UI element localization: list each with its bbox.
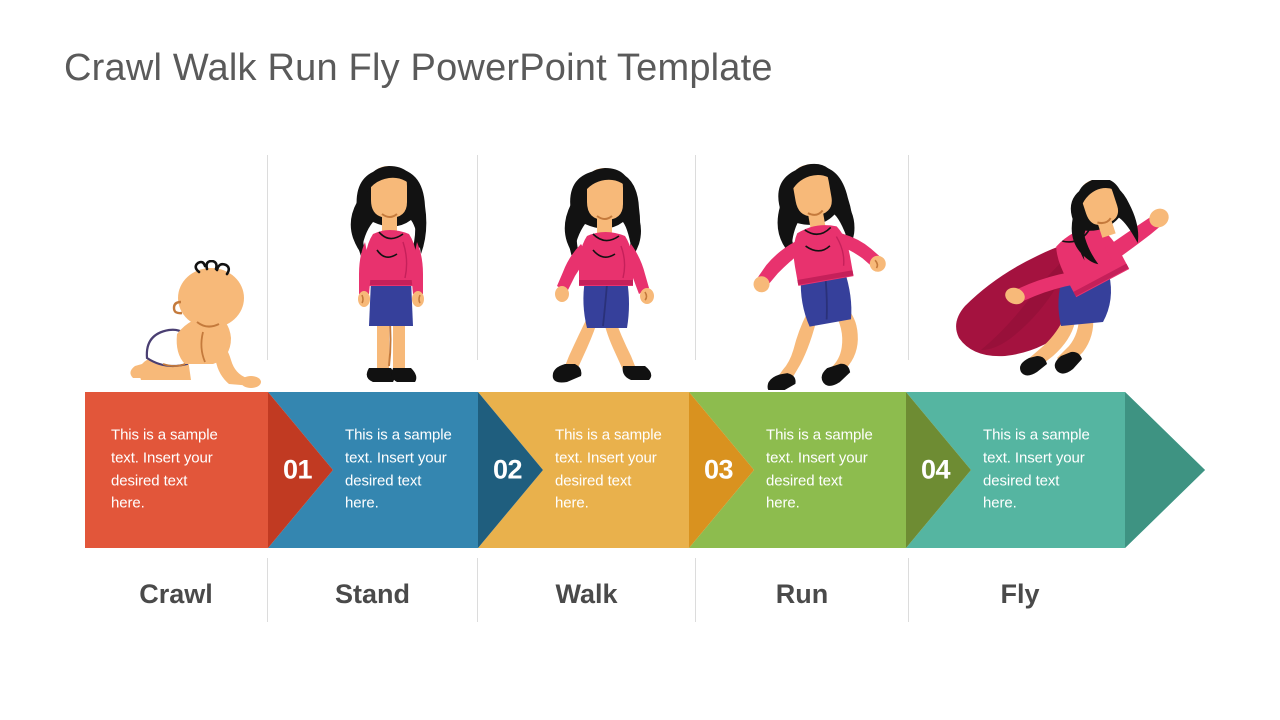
stage-label-crawl: Crawl (85, 576, 267, 612)
chevron-text-crawl: This is a sample text. Insert your desir… (111, 424, 223, 515)
page-title: Crawl Walk Run Fly PowerPoint Template (64, 44, 773, 92)
figure-flying-superhero (945, 152, 1175, 390)
flying-superhero-icon (945, 180, 1175, 390)
divider-top-1 (267, 155, 268, 360)
chevron-arrow-fly (1125, 392, 1205, 548)
divider-top-4 (908, 155, 909, 360)
figure-running-woman (745, 152, 895, 390)
walking-woman-icon (535, 164, 675, 390)
chevron-number-04: 04 (921, 455, 950, 486)
stage-label-run: Run (696, 576, 908, 612)
divider-top-2 (477, 155, 478, 360)
divider-top-3 (695, 155, 696, 360)
stage-label-walk: Walk (478, 576, 695, 612)
chevron-number-03: 03 (704, 455, 733, 486)
chevron-text-fly: This is a sample text. Insert your desir… (983, 424, 1095, 515)
running-woman-icon (745, 162, 895, 390)
figure-walking-woman (535, 152, 675, 390)
stage-label-stand: Stand (268, 576, 477, 612)
chevron-text-walk: This is a sample text. Insert your desir… (555, 424, 667, 515)
figure-crawling-baby (125, 152, 265, 390)
chevron-text-run: This is a sample text. Insert your desir… (766, 424, 878, 515)
crawling-baby-icon (125, 260, 265, 390)
chevron-number-01: 01 (283, 455, 312, 486)
chevron-number-02: 02 (493, 455, 522, 486)
stage-label-fly: Fly (909, 576, 1131, 612)
standing-woman-icon (325, 162, 455, 390)
illustration-row (85, 152, 1205, 390)
process-chevron-bar: This is a sample text. Insert your desir… (85, 392, 1205, 548)
figure-standing-woman (325, 152, 455, 390)
chevron-text-stand: This is a sample text. Insert your desir… (345, 424, 457, 515)
